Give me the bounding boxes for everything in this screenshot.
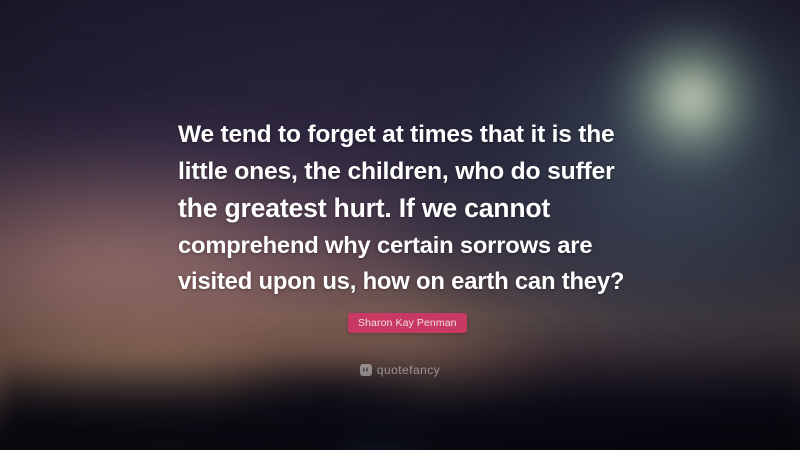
watermark-brand: quotefancy	[377, 363, 440, 377]
quote-mark-icon	[360, 364, 372, 376]
quote-line-5: visited upon us, how on earth can they?	[178, 264, 630, 301]
quote-line-1: We tend to forget at times that it is th…	[178, 116, 626, 153]
watermark[interactable]: quotefancy	[0, 363, 800, 377]
quote-line-3: the greatest hurt. If we cannot	[178, 190, 626, 227]
quote-line-4: comprehend why certain sorrows are	[178, 227, 635, 264]
author-name: Sharon Kay Penman	[358, 317, 457, 329]
quote-image-canvas: We tend to forget at times that it is th…	[0, 0, 800, 450]
author-badge[interactable]: Sharon Kay Penman	[348, 313, 467, 333]
content-layer: We tend to forget at times that it is th…	[0, 0, 800, 450]
quote-line-2: little ones, the children, who do suffer	[178, 153, 630, 190]
quote-text-block: We tend to forget at times that it is th…	[178, 116, 626, 301]
